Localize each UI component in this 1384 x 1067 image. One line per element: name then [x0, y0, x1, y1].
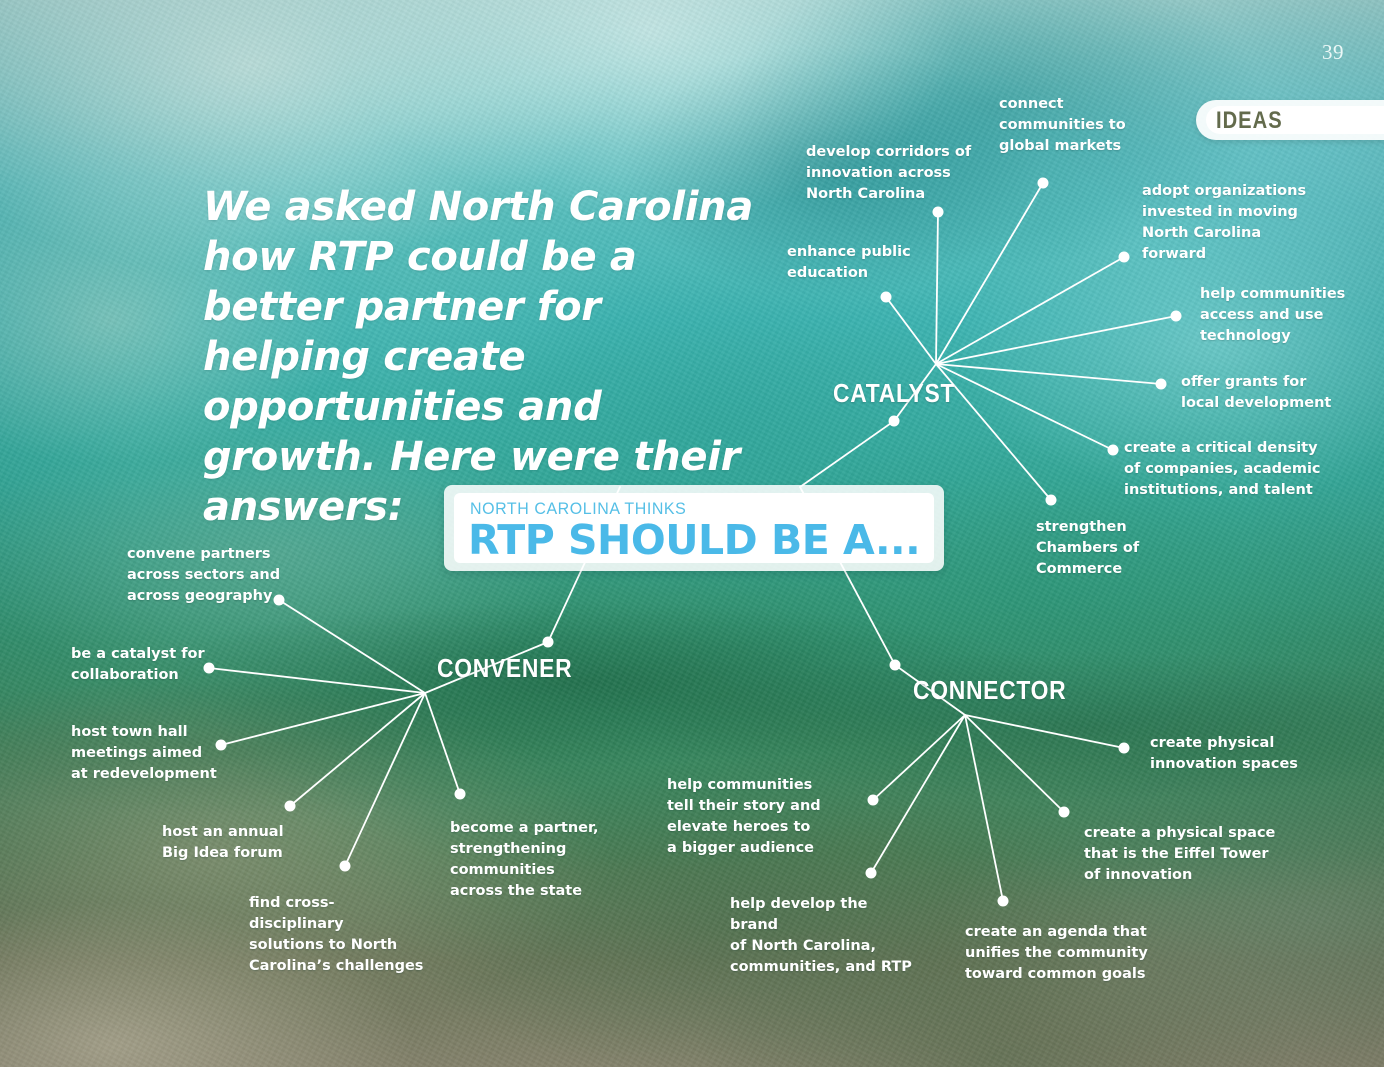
catalyst-item-connect-communities: connect communities to global markets	[999, 94, 1134, 157]
hub-label-connector: CONNECTOR	[913, 675, 1066, 706]
connector-item-innovation-spaces: create physical innovation spaces	[1150, 733, 1315, 775]
catalyst-item-offer-grants: offer grants for local development	[1181, 372, 1341, 414]
hub-label-catalyst: CATALYST	[833, 378, 955, 409]
connector-item-eiffel-tower: create a physical space that is the Eiff…	[1084, 823, 1284, 886]
ideas-tab-label: IDEAS	[1216, 107, 1283, 135]
catalyst-item-critical-density: create a critical density of companies, …	[1124, 438, 1324, 501]
catalyst-item-help-technology: help communities access and use technolo…	[1200, 284, 1360, 347]
central-title-main: RTP SHOULD BE A...	[468, 518, 920, 562]
convener-item-town-hall: host town hall meetings aimed at redevel…	[71, 722, 231, 785]
infographic-page: 39 IDEAS We asked North Carolina how RTP…	[0, 0, 1384, 1067]
catalyst-item-develop-corridors: develop corridors of innovation across N…	[806, 142, 976, 205]
catalyst-item-enhance-education: enhance public education	[787, 242, 932, 284]
connector-item-develop-brand: help develop the brand of North Carolina…	[730, 894, 920, 978]
convener-item-big-idea-forum: host an annual Big Idea forum	[162, 822, 322, 864]
convener-item-convene-partners: convene partners across sectors and acro…	[127, 544, 287, 607]
hub-label-convener: CONVENER	[437, 653, 572, 684]
catalyst-item-adopt-organizations: adopt organizations invested in moving N…	[1142, 181, 1322, 265]
page-number: 39	[1322, 40, 1344, 65]
connector-item-unifying-agenda: create an agenda that unifies the commun…	[965, 922, 1150, 985]
page-title: We asked North Carolina how RTP could be…	[203, 182, 763, 532]
convener-item-become-partner: become a partner, strengthening communit…	[450, 818, 610, 902]
convener-item-catalyst-collaboration: be a catalyst for collaboration	[71, 644, 221, 686]
convener-item-cross-disciplinary: find cross-disciplinary solutions to Nor…	[249, 893, 429, 977]
catalyst-item-strengthen-chambers: strengthen Chambers of Commerce	[1036, 517, 1186, 580]
content-layer: 39 IDEAS We asked North Carolina how RTP…	[0, 0, 1384, 1067]
connector-item-tell-their-story: help communities tell their story and el…	[667, 775, 837, 859]
